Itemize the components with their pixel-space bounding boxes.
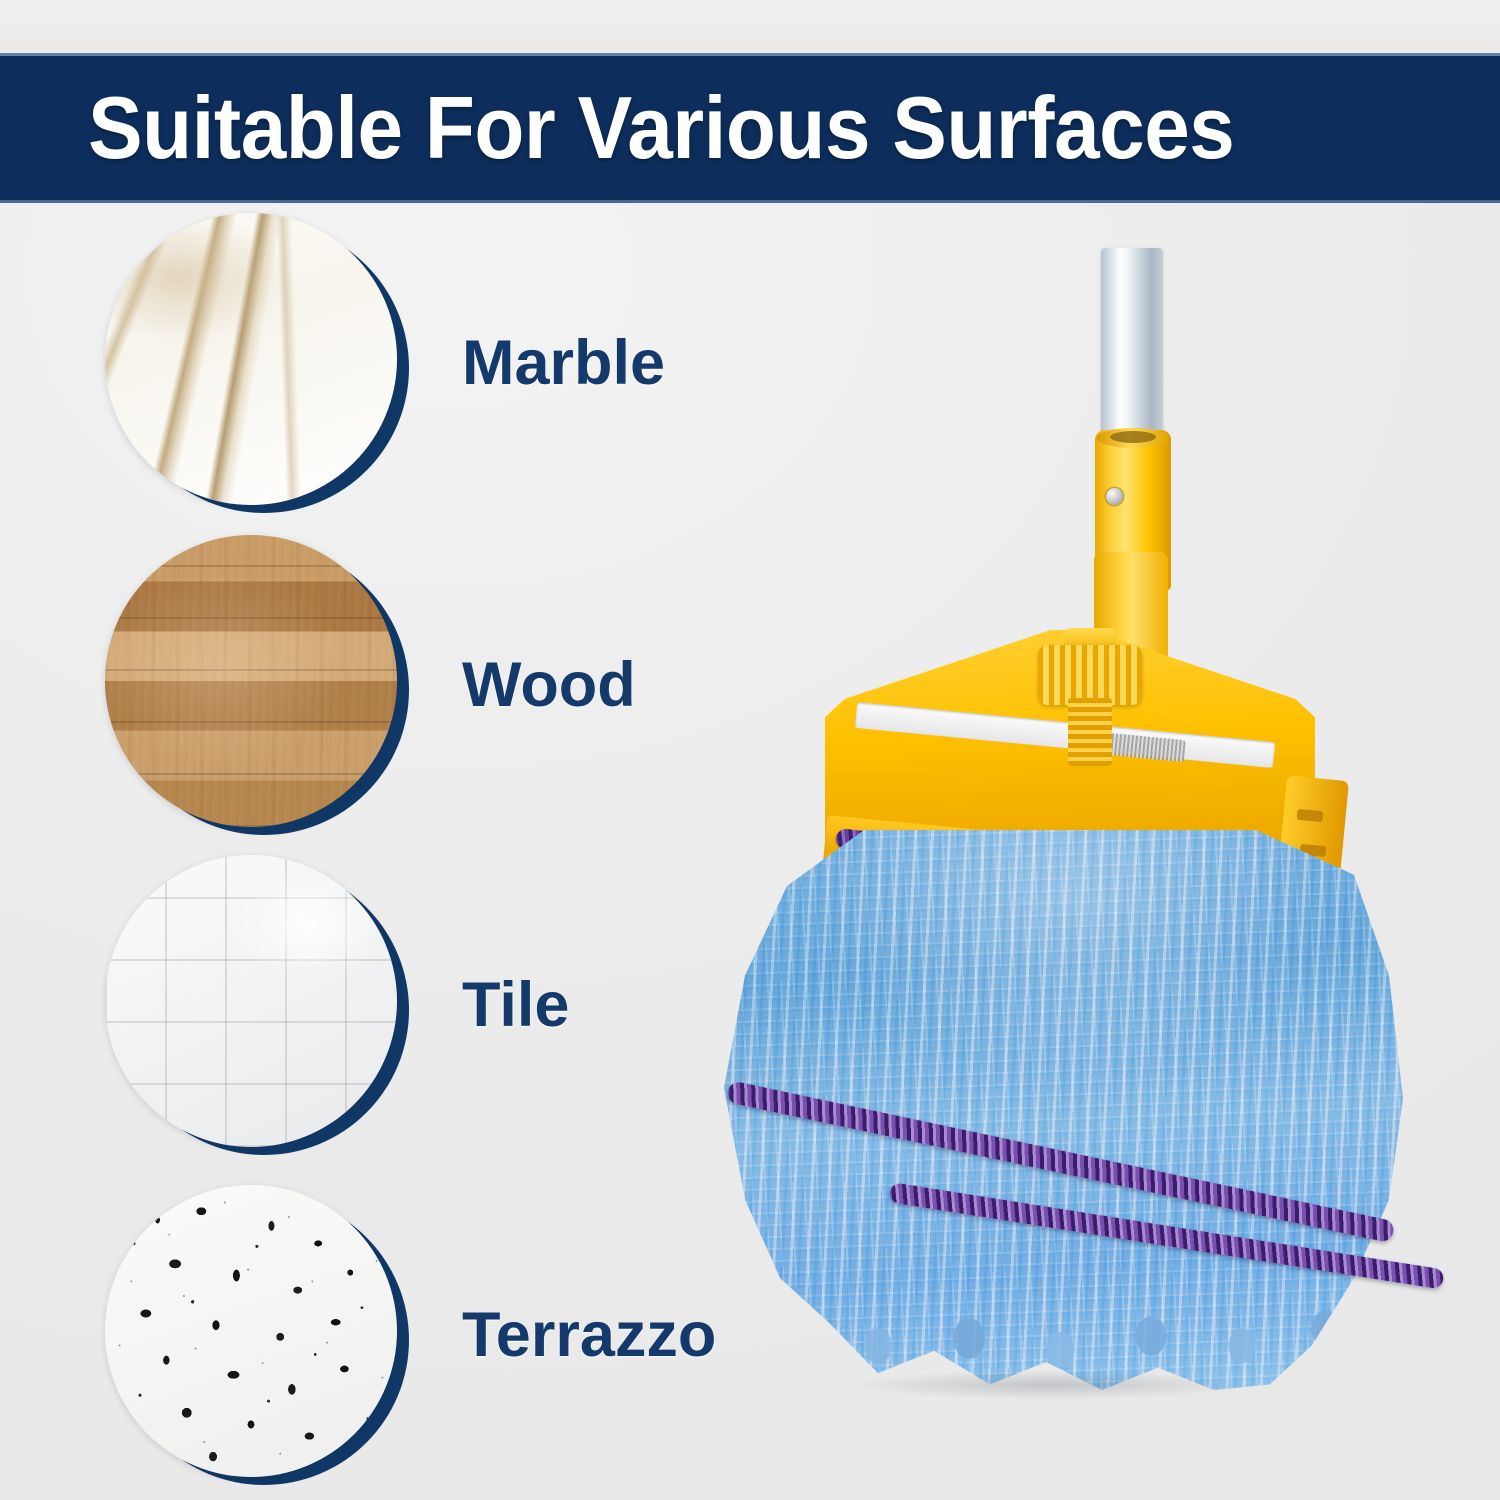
header-banner: Suitable For Various Surfaces (0, 53, 1500, 203)
wood-texture (105, 535, 397, 827)
knurled-thumbscrew-knob-icon (1038, 645, 1142, 705)
surface-label-marble: Marble (462, 213, 665, 513)
product-drop-shadow (770, 1365, 1330, 1405)
marble-texture (105, 213, 397, 505)
thumbscrew-shaft (1068, 698, 1112, 766)
terrazzo-swatch (105, 1185, 405, 1485)
product-image-mop (640, 230, 1500, 1420)
tile-swatch (105, 855, 405, 1155)
terrazzo-texture-circle-icon (105, 1185, 397, 1477)
blue-yarn-skirt (640, 830, 1500, 1420)
wood-texture-circle-icon (105, 535, 397, 827)
tile-texture-circle-icon (105, 855, 397, 1147)
marble-swatch (105, 213, 405, 513)
top-background-strip (0, 0, 1500, 53)
socket-opening (1110, 431, 1156, 443)
page-title: Suitable For Various Surfaces (88, 84, 1234, 172)
wood-swatch (105, 535, 405, 835)
metal-rivet-icon (1106, 488, 1123, 505)
clamp-side-slot (1297, 809, 1324, 822)
tile-texture (105, 855, 397, 1147)
marble-texture-circle-icon (105, 213, 397, 505)
infographic-canvas: Suitable For Various Surfaces Marble Woo… (0, 0, 1500, 1500)
surface-label-wood: Wood (462, 535, 636, 835)
terrazzo-texture (105, 1185, 397, 1477)
aluminum-pole-icon (1101, 248, 1163, 453)
surface-label-tile: Tile (462, 855, 569, 1155)
